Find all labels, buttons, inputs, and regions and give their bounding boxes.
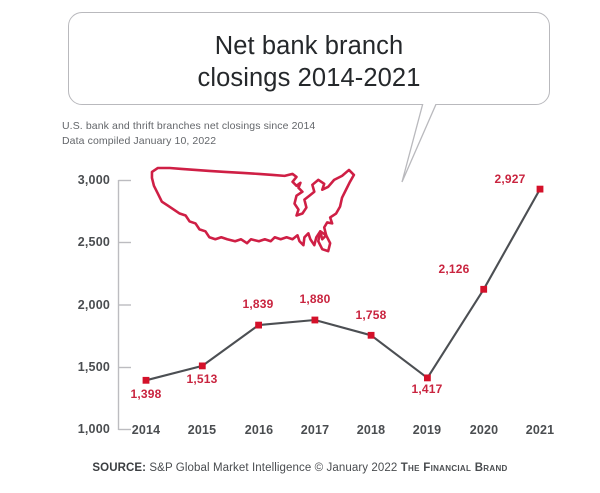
chart-line xyxy=(146,189,540,380)
data-label-2020: 2,126 xyxy=(424,262,484,276)
data-point-2016 xyxy=(255,322,262,329)
data-point-2019 xyxy=(424,375,431,382)
title-speech-bubble: Net bank branch closings 2014-2021 xyxy=(68,12,550,105)
data-point-2015 xyxy=(199,363,206,370)
data-point-2021 xyxy=(537,186,544,193)
data-label-2021: 2,927 xyxy=(480,172,540,186)
data-label-2019: 1,417 xyxy=(397,382,457,396)
data-point-2020 xyxy=(480,286,487,293)
data-label-2014: 1,398 xyxy=(116,387,176,401)
data-point-2018 xyxy=(368,332,375,339)
us-map-outline-icon xyxy=(152,168,354,251)
data-label-2018: 1,758 xyxy=(341,308,401,322)
page-title: Net bank branch closings 2014-2021 xyxy=(69,30,549,94)
data-point-2017 xyxy=(312,317,319,324)
speech-bubble-tail xyxy=(390,100,470,192)
data-label-2017: 1,880 xyxy=(285,292,345,306)
data-point-2014 xyxy=(143,377,150,384)
data-label-2016: 1,839 xyxy=(228,297,288,311)
data-label-2015: 1,513 xyxy=(172,372,232,386)
